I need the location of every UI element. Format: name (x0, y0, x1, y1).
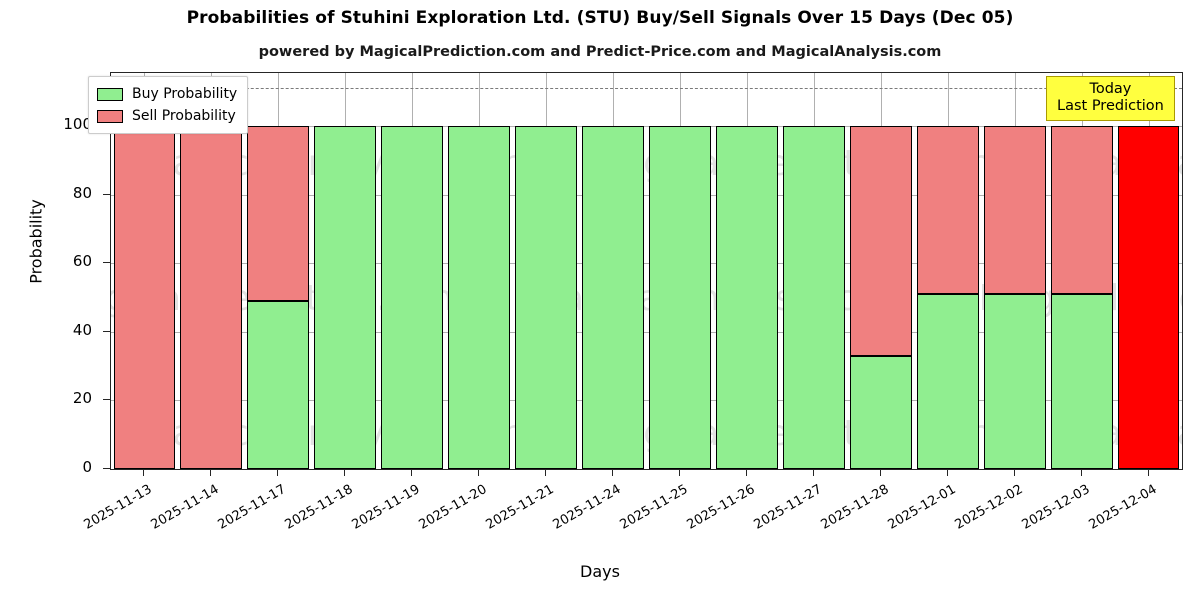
bar-group[interactable] (582, 73, 644, 469)
bar-group[interactable] (1051, 73, 1113, 469)
bar-segment-sell[interactable] (917, 126, 979, 294)
bar-group[interactable] (247, 73, 309, 469)
bar-segment-sell[interactable] (180, 126, 242, 469)
y-tick-label: 100 (12, 115, 92, 133)
bars-layer (111, 73, 1182, 469)
x-tick-mark (1148, 470, 1149, 476)
bar-group[interactable] (649, 73, 711, 469)
y-tick-mark (103, 468, 110, 469)
x-axis-label: Days (0, 562, 1200, 581)
y-tick-label: 80 (12, 184, 92, 202)
bar-segment-buy[interactable] (314, 126, 376, 469)
bar-segment-buy[interactable] (381, 126, 443, 469)
y-tick-label: 0 (12, 458, 92, 476)
plot-area: MagicalAnalysis.comMagicalPrediction.com… (110, 72, 1183, 470)
bar-segment-buy[interactable] (917, 294, 979, 469)
x-tick-mark (277, 470, 278, 476)
x-tick-mark (1081, 470, 1082, 476)
legend-swatch-sell-icon (97, 110, 123, 123)
y-tick-mark (103, 331, 110, 332)
bar-segment-sell[interactable] (850, 126, 912, 356)
legend-item-buy[interactable]: Buy Probability (97, 83, 237, 105)
bar-group[interactable] (716, 73, 778, 469)
legend-swatch-buy-icon (97, 88, 123, 101)
bar-segment-sell[interactable] (114, 126, 176, 469)
bar-segment-buy[interactable] (850, 356, 912, 469)
bar-segment-sell[interactable] (1051, 126, 1113, 294)
bar-group[interactable] (917, 73, 979, 469)
bar-segment-buy[interactable] (515, 126, 577, 469)
legend-label-buy: Buy Probability (132, 86, 237, 102)
x-tick-mark (813, 470, 814, 476)
x-tick-mark (545, 470, 546, 476)
x-tick-mark (411, 470, 412, 476)
bar-group[interactable] (1118, 73, 1180, 469)
y-tick-mark (103, 194, 110, 195)
bar-segment-today[interactable] (1118, 126, 1180, 469)
x-tick-mark (478, 470, 479, 476)
probability-bar-chart: Probabilities of Stuhini Exploration Ltd… (0, 0, 1200, 600)
bar-group[interactable] (984, 73, 1046, 469)
bar-group[interactable] (448, 73, 510, 469)
x-tick-mark (880, 470, 881, 476)
x-tick-mark (612, 470, 613, 476)
x-tick-mark (1014, 470, 1015, 476)
chart-legend[interactable]: Buy Probability Sell Probability (88, 76, 248, 134)
x-tick-mark (210, 470, 211, 476)
legend-label-sell: Sell Probability (132, 108, 236, 124)
bar-group[interactable] (515, 73, 577, 469)
bar-segment-buy[interactable] (649, 126, 711, 469)
bar-segment-buy[interactable] (1051, 294, 1113, 469)
last-prediction-label: Last Prediction (1057, 98, 1164, 115)
y-tick-mark (103, 262, 110, 263)
bar-segment-buy[interactable] (582, 126, 644, 469)
bar-segment-sell[interactable] (247, 126, 309, 301)
bar-group[interactable] (314, 73, 376, 469)
bar-segment-sell[interactable] (984, 126, 1046, 294)
reference-dashed-line (111, 88, 1182, 89)
gridline-horizontal (111, 469, 1182, 470)
y-axis-label: Probability (27, 142, 46, 342)
bar-group[interactable] (850, 73, 912, 469)
x-tick-mark (679, 470, 680, 476)
chart-title: Probabilities of Stuhini Exploration Ltd… (0, 8, 1200, 28)
x-tick-mark (746, 470, 747, 476)
x-tick-mark (344, 470, 345, 476)
x-tick-mark (947, 470, 948, 476)
y-tick-label: 60 (12, 252, 92, 270)
x-tick-mark (143, 470, 144, 476)
y-tick-label: 40 (12, 321, 92, 339)
y-tick-label: 20 (12, 389, 92, 407)
today-annotation: Today Last Prediction (1046, 76, 1175, 121)
bar-segment-buy[interactable] (984, 294, 1046, 469)
bar-segment-buy[interactable] (716, 126, 778, 469)
chart-subtitle: powered by MagicalPrediction.com and Pre… (0, 44, 1200, 60)
bar-segment-buy[interactable] (448, 126, 510, 469)
today-label: Today (1057, 81, 1164, 98)
bar-group[interactable] (381, 73, 443, 469)
bar-segment-buy[interactable] (247, 301, 309, 469)
y-tick-mark (103, 399, 110, 400)
bar-segment-buy[interactable] (783, 126, 845, 469)
bar-group[interactable] (783, 73, 845, 469)
legend-item-sell[interactable]: Sell Probability (97, 105, 237, 127)
